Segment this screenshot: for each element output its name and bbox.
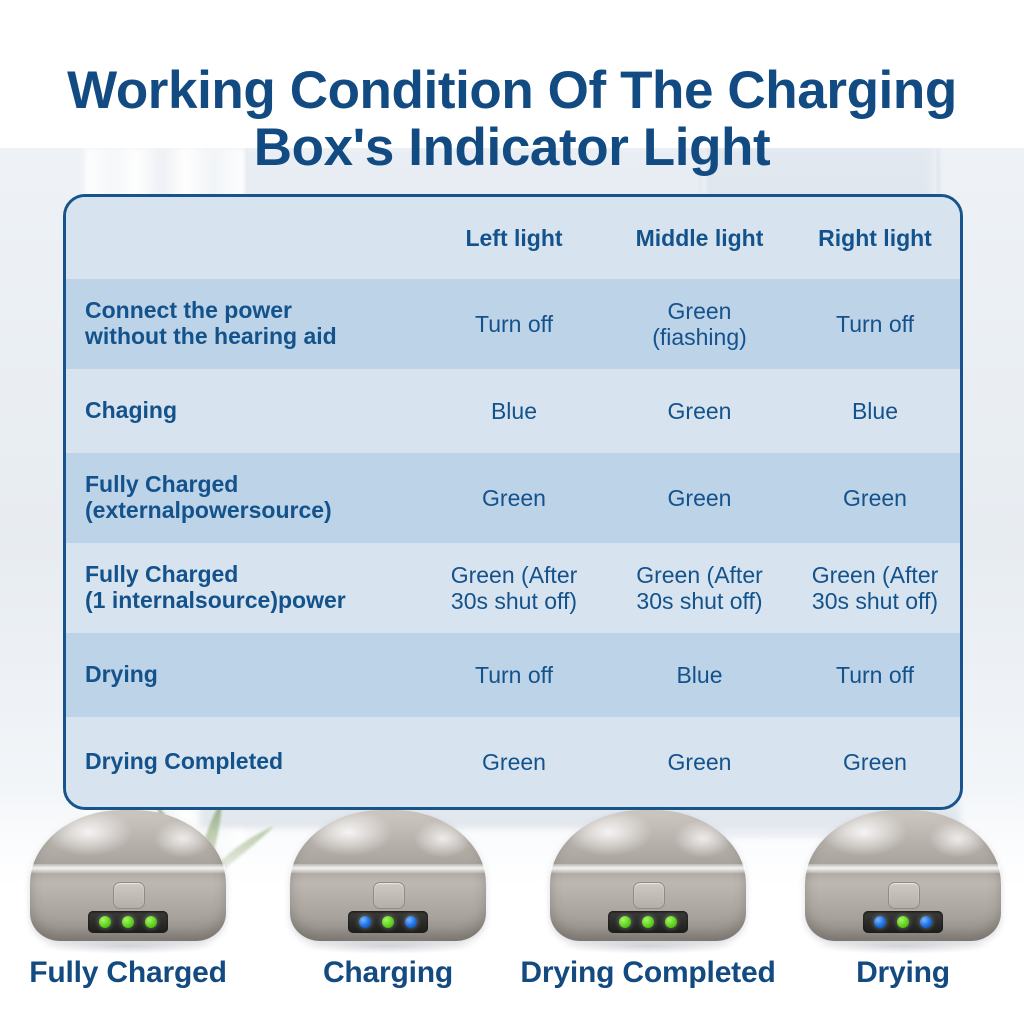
table-row: Drying Turn off Blue Turn off (66, 633, 960, 717)
charging-case-button (113, 882, 145, 909)
cell-right-light: Green (790, 485, 960, 511)
led-right (920, 916, 932, 928)
table-row: Drying Completed Green Green Green (66, 717, 960, 807)
charging-case-image (805, 810, 1001, 944)
product-caption: Fully Charged (0, 956, 256, 990)
charging-case-seam (551, 864, 745, 873)
cell-middle-light: Green (fiashing) (609, 298, 790, 350)
cell-left-light: Turn off (419, 662, 609, 688)
product-caption: Drying (775, 956, 1024, 990)
led-indicator-strip (863, 911, 943, 933)
led-left (874, 916, 886, 928)
cell-right-light-line-1: Green (After (790, 562, 960, 588)
cell-middle-light: Green (After 30s shut off) (609, 562, 790, 614)
led-right (145, 916, 157, 928)
cell-middle-light: Green (609, 398, 790, 424)
cell-left-light: Blue (419, 398, 609, 424)
charging-case-image (550, 810, 746, 944)
cell-middle-light-line-2: (fiashing) (609, 324, 790, 350)
product-charging: Charging (260, 806, 516, 1024)
table-row: Fully Charged (externalpowersource) Gree… (66, 453, 960, 543)
cell-left-light: Green (419, 749, 609, 775)
page-title-line-2: Box's Indicator Light (0, 119, 1024, 176)
charging-case-button (888, 882, 920, 909)
led-middle (897, 916, 909, 928)
led-left (619, 916, 631, 928)
row-label: Fully Charged (externalpowersource) (66, 472, 419, 524)
row-label-line-1: Fully Charged (85, 472, 419, 498)
product-drying: Drying (775, 806, 1024, 1024)
row-label: Connect the power without the hearing ai… (66, 298, 419, 350)
cell-left-light-line-1: Green (After (419, 562, 609, 588)
led-middle (382, 916, 394, 928)
led-left (99, 916, 111, 928)
cell-middle-light: Green (609, 749, 790, 775)
led-indicator-strip (608, 911, 688, 933)
case-shadow (302, 938, 474, 954)
row-label-line-2: (1 internalsource)power (85, 588, 419, 614)
charging-case-image (30, 810, 226, 944)
cell-left-light: Turn off (419, 311, 609, 337)
cell-right-light: Turn off (790, 662, 960, 688)
cell-left-light-line-2: 30s shut off) (419, 588, 609, 614)
table-row: Chaging Blue Green Blue (66, 369, 960, 453)
cell-right-light: Green (790, 749, 960, 775)
row-label: Drying (66, 662, 419, 688)
cell-left-light: Green (419, 485, 609, 511)
table-header-row: Left light Middle light Right light (66, 197, 960, 279)
cell-right-light: Green (After 30s shut off) (790, 562, 960, 614)
led-right (405, 916, 417, 928)
header-right-light: Right light (790, 225, 960, 251)
cell-middle-light-line-1: Green (After (609, 562, 790, 588)
cell-middle-light: Blue (609, 662, 790, 688)
product-gallery: Fully Charged Charging (0, 806, 1024, 1024)
header-left-light: Left light (419, 225, 609, 251)
row-label: Fully Charged (1 internalsource)power (66, 562, 419, 614)
case-shadow (817, 938, 989, 954)
product-fully-charged: Fully Charged (0, 806, 256, 1024)
led-left (359, 916, 371, 928)
led-middle (122, 916, 134, 928)
charging-case-seam (31, 864, 225, 873)
table-row: Fully Charged (1 internalsource)power Gr… (66, 543, 960, 633)
row-label-line-1: Fully Charged (85, 562, 419, 588)
page-title-line-1: Working Condition Of The Charging (0, 62, 1024, 119)
cell-right-light-line-2: 30s shut off) (790, 588, 960, 614)
case-shadow (42, 938, 214, 954)
product-caption: Drying Completed (520, 956, 776, 990)
cell-left-light: Green (After 30s shut off) (419, 562, 609, 614)
charging-case-button (373, 882, 405, 909)
led-right (665, 916, 677, 928)
cell-middle-light: Green (609, 485, 790, 511)
row-label: Drying Completed (66, 749, 419, 775)
product-caption: Charging (260, 956, 516, 990)
row-label-line-2: (externalpowersource) (85, 498, 419, 524)
led-indicator-strip (88, 911, 168, 933)
charging-case-seam (291, 864, 485, 873)
row-label-line-1: Connect the power (85, 298, 419, 324)
table-row: Connect the power without the hearing ai… (66, 279, 960, 369)
led-indicator-strip (348, 911, 428, 933)
case-shadow (562, 938, 734, 954)
product-drying-completed: Drying Completed (520, 806, 776, 1024)
cell-middle-light-line-1: Green (609, 298, 790, 324)
cell-middle-light-line-2: 30s shut off) (609, 588, 790, 614)
charging-case-button (633, 882, 665, 909)
cell-right-light: Blue (790, 398, 960, 424)
cell-right-light: Turn off (790, 311, 960, 337)
indicator-light-table: Left light Middle light Right light Conn… (63, 194, 963, 810)
row-label: Chaging (66, 398, 419, 424)
led-middle (642, 916, 654, 928)
charging-case-image (290, 810, 486, 944)
row-label-line-2: without the hearing aid (85, 324, 419, 350)
charging-case-seam (806, 864, 1000, 873)
page-title: Working Condition Of The Charging Box's … (0, 62, 1024, 176)
header-middle-light: Middle light (609, 225, 790, 251)
